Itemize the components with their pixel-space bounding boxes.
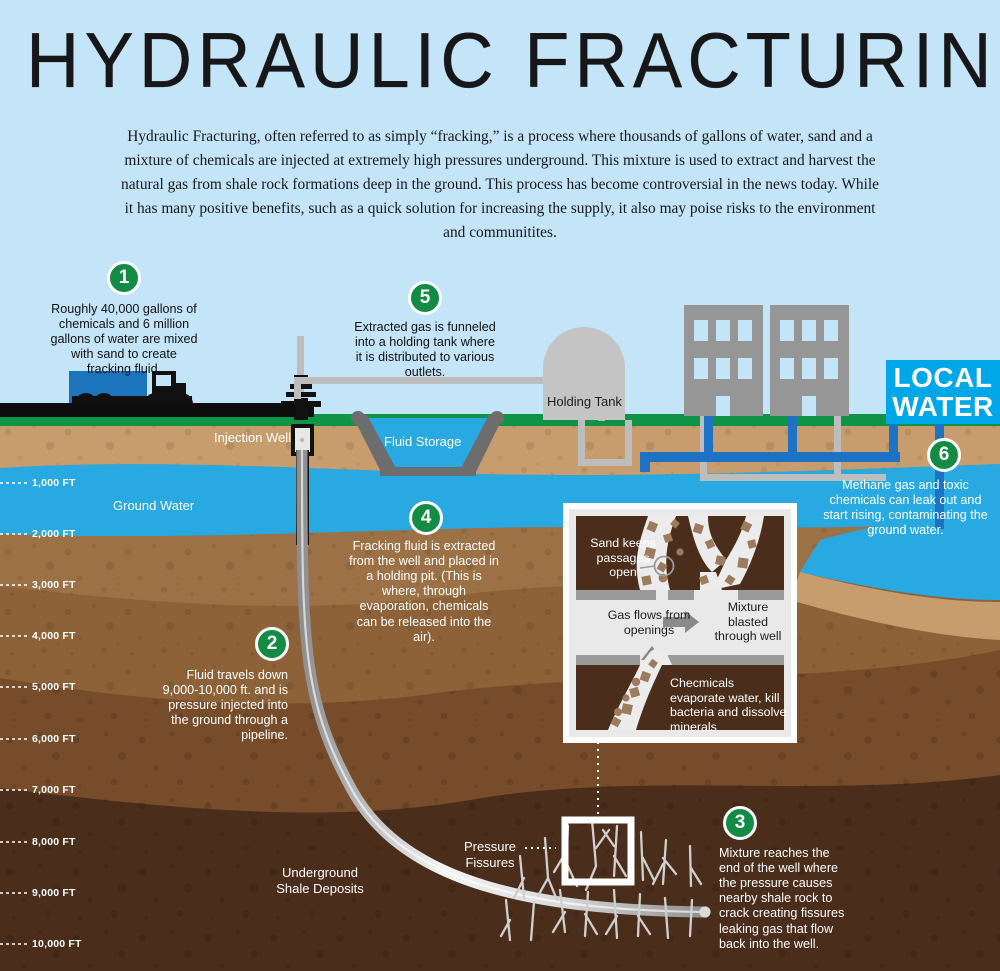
step-4-badge[interactable]: 4: [409, 501, 443, 535]
intro-paragraph: Hydraulic Fracturing, often referred to …: [120, 125, 880, 245]
step-3-caption: Mixture reaches the end of the well wher…: [719, 846, 849, 952]
depth-label-4000: 4,000 FT: [32, 630, 76, 642]
infographic-canvas: HYDRAULIC FRACTURING Hydraulic Fracturin…: [0, 0, 1000, 971]
holding-tank-label: Holding Tank: [547, 394, 622, 409]
step-5-caption: Extracted gas is funneled into a holding…: [351, 320, 499, 380]
depth-label-3000: 3,000 FT: [32, 579, 76, 591]
depth-label-9000: 9,000 FT: [32, 887, 76, 899]
step-4-caption: Fracking fluid is extracted from the wel…: [348, 539, 500, 645]
page-title: HYDRAULIC FRACTURING: [26, 22, 986, 100]
step-6-caption: Methane gas and toxic chemicals can leak…: [818, 478, 993, 538]
inset-gas-flows-label: Gas flows from openings: [596, 608, 702, 637]
step-3-badge[interactable]: 3: [723, 806, 757, 840]
inset-sand-label: Sand keeps passages open: [576, 536, 670, 580]
step-5-badge[interactable]: 5: [408, 281, 442, 315]
local-water-line1: LOCAL: [894, 362, 993, 393]
depth-label-5000: 5,000 FT: [32, 681, 76, 693]
ground-water-label: Ground Water: [113, 498, 194, 513]
depth-label-7000: 7,000 FT: [32, 784, 76, 796]
step-2-badge[interactable]: 2: [255, 627, 289, 661]
step-2-caption: Fluid travels down 9,000-10,000 ft. and …: [160, 668, 288, 744]
step-1-badge[interactable]: 1: [107, 261, 141, 295]
injection-well-label: Injection Well: [214, 430, 291, 445]
step-6-badge[interactable]: 6: [927, 438, 961, 472]
depth-label-2000: 2,000 FT: [32, 528, 76, 540]
depth-label-8000: 8,000 FT: [32, 836, 76, 848]
depth-label-1000: 1,000 FT: [32, 477, 76, 489]
local-water-line2: WATER: [892, 391, 994, 422]
step-1-caption: Roughly 40,000 gallons of chemicals and …: [48, 302, 200, 378]
depth-label-10000: 10,000 FT: [32, 938, 82, 950]
inset-mixture-label: Mixture blasted through well: [706, 600, 790, 644]
local-water-label: LOCAL WATER: [886, 364, 1000, 421]
depth-label-6000: 6,000 FT: [32, 733, 76, 745]
inset-chemicals-label: Checmicals evaporate water, kill bacteri…: [670, 676, 790, 735]
underground-shale-label: Underground Shale Deposits: [255, 865, 385, 896]
pressure-fissures-label: Pressure Fissures: [455, 839, 525, 870]
fluid-storage-label: Fluid Storage: [384, 434, 461, 449]
